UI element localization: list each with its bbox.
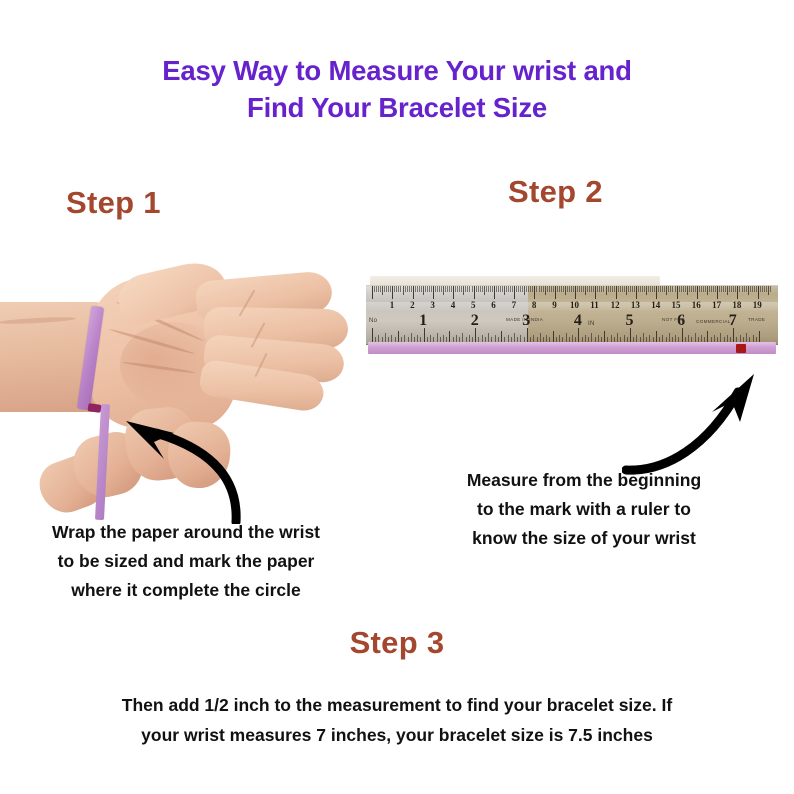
step-2-heading: Step 2 <box>508 174 603 210</box>
ruler-tick-inch <box>753 335 754 342</box>
ruler-tick-mm <box>725 286 726 292</box>
ruler-tick-mm <box>626 286 627 295</box>
ruler-tick-mm <box>691 286 692 292</box>
ruler-tick-mm <box>518 286 519 292</box>
ruler-cm-number: 19 <box>753 301 762 310</box>
ruler-cm-number: 18 <box>732 301 741 310</box>
ruler-tick-mm <box>746 286 747 292</box>
ruler-tick-mm <box>388 286 389 292</box>
ruler-tick-mm <box>467 286 468 292</box>
ruler-tick-mm <box>526 286 527 292</box>
ruler-tick-mm <box>419 286 420 292</box>
ruler-tick-mm <box>461 286 462 292</box>
ruler-tick-inch <box>443 335 444 342</box>
ruler-tick-inch <box>746 333 747 342</box>
ruler-tick-mm <box>433 286 434 299</box>
wrist-paper-mark <box>88 403 102 413</box>
page-title-line-2: Find Your Bracelet Size <box>0 89 794 126</box>
ruler-tick-mm <box>687 286 688 295</box>
ruler-tick-mm <box>482 286 483 292</box>
infographic-page: Easy Way to Measure Your wrist and Find … <box>0 0 794 794</box>
ruler-tick-mm <box>384 286 385 292</box>
ruler-tick-inch <box>430 335 431 342</box>
ruler-tick-inch <box>604 331 605 342</box>
ruler-tick-mm <box>636 286 637 299</box>
ruler-tick-inch <box>759 331 760 342</box>
ruler-tick-inch <box>636 335 637 342</box>
ruler-tick-mm <box>685 286 686 292</box>
ruler-tick-inch <box>527 328 528 342</box>
ruler-tick-inch <box>553 331 554 342</box>
step-2-caption: Measure from the beginning to the mark w… <box>398 466 770 553</box>
ruler-tick-mm <box>376 286 377 292</box>
ruler-cm-number: 3 <box>430 301 435 310</box>
step-3-caption-line-1: Then add 1/2 inch to the measurement to … <box>47 690 747 720</box>
ruler-tick-mm <box>656 286 657 299</box>
ruler-tick-mm <box>677 286 678 299</box>
ruler-tick-inch <box>707 331 708 342</box>
ruler-tick-inch <box>475 328 476 342</box>
ruler-measured-paper-strip <box>368 342 776 354</box>
ruler-tick-inch <box>546 335 547 342</box>
ruler-tick-mm <box>488 286 489 292</box>
ruler-tick-mm <box>571 286 572 292</box>
step-2-ruler-photo: 12345678910111213141516171819 1234567 MA… <box>366 276 778 362</box>
page-title: Easy Way to Measure Your wrist and Find … <box>0 52 794 126</box>
ruler-tick-mm <box>650 286 651 292</box>
ruler-tick-mm <box>579 286 580 292</box>
ruler-tick-mm <box>614 286 615 292</box>
ruler-tick-mm <box>396 286 397 292</box>
ruler-cm-number: 14 <box>651 301 660 310</box>
ruler-tick-mm <box>593 286 594 292</box>
ruler-cm-number: 12 <box>611 301 620 310</box>
ruler-tick-mm <box>723 286 724 292</box>
ruler-tick-mm <box>717 286 718 299</box>
ruler-tick-mm <box>469 286 470 292</box>
ruler-inch-number: 5 <box>626 313 634 329</box>
ruler-label-inch-unit: IN <box>588 321 595 327</box>
ruler-tick-mm <box>463 286 464 295</box>
ruler-tick-mm <box>587 286 588 292</box>
ruler-tick-mm <box>441 286 442 292</box>
ruler-tick-mm <box>727 286 728 295</box>
ruler-tick-inch <box>591 333 592 342</box>
ruler-tick-mm <box>640 286 641 292</box>
ruler-tick-mm <box>766 286 767 292</box>
ruler-tick-inch <box>630 328 631 342</box>
ruler-tick-mm <box>453 286 454 299</box>
ruler-tick-mm <box>638 286 639 292</box>
ruler-body: 12345678910111213141516171819 1234567 MA… <box>366 285 778 345</box>
ruler-tick-inch <box>417 335 418 342</box>
ruler-tick-inch <box>501 331 502 342</box>
ruler-stamp-commercial: COMMERCIAL <box>696 319 731 324</box>
ruler-tick-mm <box>715 286 716 292</box>
ruler-tick-inch <box>585 335 586 342</box>
ruler-cm-number: 11 <box>590 301 599 310</box>
ruler-tick-mm <box>543 286 544 292</box>
ruler-tick-mm <box>429 286 430 292</box>
ruler-tick-mm <box>597 286 598 292</box>
ruler-tick-inch <box>424 328 425 342</box>
ruler-tick-mm <box>573 286 574 292</box>
ruler-tick-mm <box>752 286 753 292</box>
ruler-cm-number: 5 <box>471 301 476 310</box>
ruler-cm-number: 7 <box>512 301 517 310</box>
ruler-label-left: No <box>369 318 377 324</box>
ruler-tick-inch <box>508 335 509 342</box>
ruler-tick-mm <box>532 286 533 292</box>
ruler-tick-mm <box>524 286 525 295</box>
ruler-tick-mm <box>553 286 554 292</box>
ruler-tick-mm <box>569 286 570 292</box>
step-2-caption-line-2: to the mark with a ruler to <box>398 495 770 524</box>
ruler-tick-inch <box>701 335 702 342</box>
ruler-tick-mm <box>413 286 414 299</box>
ruler-tick-mm <box>539 286 540 292</box>
ruler-tick-inch <box>391 335 392 342</box>
ruler-tick-inch <box>740 335 741 342</box>
ruler-tick-mm <box>565 286 566 295</box>
ruler-tick-inch <box>617 333 618 342</box>
ruler-cm-number: 15 <box>672 301 681 310</box>
ruler-tick-inch <box>598 335 599 342</box>
ruler-tick-mm <box>425 286 426 292</box>
ruler-tick-inch <box>514 333 515 342</box>
ruler-tick-mm <box>756 286 757 292</box>
ruler-tick-mm <box>510 286 511 292</box>
ruler-tick-mm <box>705 286 706 292</box>
ruler-tick-inch <box>495 335 496 342</box>
ruler-tick-mm <box>642 286 643 292</box>
ruler-tick-mm <box>575 286 576 299</box>
ruler-cm-number: 8 <box>532 301 537 310</box>
ruler-tick-mm <box>409 286 410 292</box>
ruler-tick-mm <box>620 286 621 292</box>
ruler-tick-mm <box>427 286 428 292</box>
ruler-cm-number: 13 <box>631 301 640 310</box>
ruler-tick-mm <box>624 286 625 292</box>
ruler-tick-inch <box>533 335 534 342</box>
ruler-tick-mm <box>567 286 568 292</box>
ruler-stamp-made-in-india: MADE IN INDIA <box>506 317 543 322</box>
ruler-cm-number: 1 <box>390 301 395 310</box>
ruler-tick-mm <box>557 286 558 292</box>
ruler-inch-number: 2 <box>471 313 479 329</box>
ruler-tick-mm <box>648 286 649 292</box>
ruler-tick-mm <box>618 286 619 292</box>
ruler-tick-mm <box>744 286 745 292</box>
ruler-tick-mm <box>486 286 487 292</box>
ruler-tick-mm <box>423 286 424 295</box>
ruler-tick-mm <box>465 286 466 292</box>
ruler-tick-mm <box>421 286 422 292</box>
ruler-tick-inch <box>624 335 625 342</box>
ruler-cm-number: 9 <box>552 301 557 310</box>
ruler-tick-mm <box>713 286 714 292</box>
ruler-tick-mm <box>530 286 531 292</box>
ruler-tick-mm <box>431 286 432 292</box>
ruler-tick-mm <box>675 286 676 292</box>
ruler-tick-inch <box>649 335 650 342</box>
ruler-tick-inch <box>688 335 689 342</box>
ruler-tick-mm <box>490 286 491 292</box>
ruler-tick-mm <box>707 286 708 295</box>
ruler-tick-inch <box>727 335 728 342</box>
ruler-tick-mm <box>695 286 696 292</box>
ruler-tick-mm <box>372 286 373 299</box>
ruler-tick-mm <box>699 286 700 292</box>
ruler-tick-mm <box>449 286 450 292</box>
ruler-tick-inch <box>656 331 657 342</box>
ruler-tick-inch <box>572 335 573 342</box>
ruler-inch-number: 4 <box>574 313 582 329</box>
ruler-tick-mm <box>654 286 655 292</box>
ruler-tick-mm <box>443 286 444 295</box>
ruler-tick-mm <box>735 286 736 292</box>
ruler-tick-mm <box>610 286 611 292</box>
ruler-tick-inch <box>695 333 696 342</box>
ruler-cm-number: 2 <box>410 301 415 310</box>
ruler-tick-mm <box>502 286 503 292</box>
ruler-tick-mm <box>603 286 604 292</box>
ruler-tick-mm <box>392 286 393 299</box>
ruler-tick-mm <box>742 286 743 292</box>
ruler-tick-mm <box>762 286 763 292</box>
ruler-tick-mm <box>451 286 452 292</box>
ruler-tick-mm <box>660 286 661 292</box>
ruler-tick-mm <box>439 286 440 292</box>
ruler-tick-mm <box>506 286 507 292</box>
ruler-tick-mm <box>407 286 408 292</box>
ruler-tick-mm <box>435 286 436 292</box>
ruler-tick-inch <box>733 328 734 342</box>
ruler-tick-mm <box>534 286 535 299</box>
step-3-heading: Step 3 <box>0 625 794 661</box>
ruler-tick-mm <box>496 286 497 292</box>
ruler-tick-mm <box>770 286 771 292</box>
step-1-caption-line-1: Wrap the paper around the wrist <box>0 518 372 547</box>
ruler-tick-mm <box>498 286 499 292</box>
ruler-tick-mm <box>622 286 623 292</box>
ruler-tick-mm <box>672 286 673 292</box>
ruler-tick-mm <box>662 286 663 292</box>
ruler-tick-mm <box>374 286 375 292</box>
ruler-cm-number: 4 <box>451 301 456 310</box>
ruler-tick-mm <box>541 286 542 292</box>
step-3-caption: Then add 1/2 inch to the measurement to … <box>47 690 747 750</box>
ruler-cm-number: 6 <box>491 301 496 310</box>
ruler-tick-inch <box>378 335 379 342</box>
ruler-tick-mm <box>508 286 509 292</box>
ruler-tick-mm <box>563 286 564 292</box>
ruler-tick-mm <box>403 286 404 295</box>
ruler-tick-mm <box>630 286 631 292</box>
ruler-tick-mm <box>737 286 738 299</box>
ruler-inch-number: 1 <box>419 313 427 329</box>
ruler-tick-mm <box>721 286 722 292</box>
ruler-tick-inch <box>404 335 405 342</box>
ruler-tick-mm <box>646 286 647 295</box>
ruler-tick-mm <box>679 286 680 292</box>
ruler-tick-mm <box>398 286 399 292</box>
ruler-tick-mm <box>386 286 387 292</box>
step-1-caption-line-3: where it complete the circle <box>0 576 372 605</box>
ruler-tick-mm <box>504 286 505 295</box>
ruler-tick-mm <box>599 286 600 292</box>
ruler-tick-inch <box>411 333 412 342</box>
ruler-tick-mm <box>760 286 761 292</box>
ruler-tick-inch <box>540 333 541 342</box>
ruler-tick-mm <box>658 286 659 292</box>
ruler-tick-mm <box>616 286 617 299</box>
ruler-tick-mm <box>668 286 669 292</box>
ruler-tick-mm <box>457 286 458 292</box>
ruler-tick-mm <box>585 286 586 295</box>
ruler-tick-mm <box>480 286 481 292</box>
ruler-tick-mm <box>476 286 477 292</box>
ruler-tick-mm <box>750 286 751 292</box>
ruler-tick-mm <box>445 286 446 292</box>
ruler-tick-inch <box>720 333 721 342</box>
ruler-tick-mm <box>754 286 755 292</box>
ruler-tick-inch <box>662 335 663 342</box>
ruler-tick-inch <box>520 335 521 342</box>
ruler-tick-mm <box>577 286 578 292</box>
ruler-tick-mm <box>608 286 609 292</box>
ruler-stamp-not-for: NOT FOR <box>662 317 685 322</box>
ruler-tick-inch <box>372 328 373 342</box>
ruler-tick-mm <box>492 286 493 292</box>
ruler-tick-mm <box>581 286 582 292</box>
ruler-tick-mm <box>693 286 694 292</box>
ruler-tick-mm <box>382 286 383 295</box>
ruler-tick-mm <box>545 286 546 295</box>
ruler-tick-mm <box>512 286 513 292</box>
ruler-tick-mm <box>522 286 523 292</box>
ruler-tick-mm <box>697 286 698 299</box>
ruler-tick-mm <box>400 286 401 292</box>
ruler-tick-inch <box>559 335 560 342</box>
ruler-tick-mm <box>484 286 485 295</box>
ruler-tick-mm <box>644 286 645 292</box>
ruler-tick-mm <box>474 286 475 299</box>
ruler-tick-inch <box>566 333 567 342</box>
ruler-tick-mm <box>681 286 682 292</box>
step-3-caption-line-2: your wrist measures 7 inches, your brace… <box>47 720 747 750</box>
step-2-caption-line-3: know the size of your wrist <box>398 524 770 553</box>
ruler-cm-number: 16 <box>692 301 701 310</box>
step-1-heading: Step 1 <box>66 185 161 221</box>
ruler-tick-inch <box>462 333 463 342</box>
ruler-tick-inch <box>578 328 579 342</box>
ruler-paper-red-mark <box>736 344 746 353</box>
ruler-tick-mm <box>459 286 460 292</box>
ruler-cm-number: 10 <box>570 301 579 310</box>
ruler-tick-mm <box>411 286 412 292</box>
ruler-tick-inch <box>385 333 386 342</box>
step-2-caption-line-1: Measure from the beginning <box>398 466 770 495</box>
ruler-tick-mm <box>551 286 552 292</box>
ruler-tick-mm <box>634 286 635 292</box>
ruler-tick-mm <box>394 286 395 292</box>
ruler-tick-mm <box>589 286 590 292</box>
ruler-tick-mm <box>719 286 720 292</box>
ruler-tick-mm <box>701 286 702 292</box>
ruler-tick-inch <box>437 333 438 342</box>
ruler-tick-mm <box>390 286 391 292</box>
ruler-tick-inch <box>482 335 483 342</box>
ruler-tick-mm <box>478 286 479 292</box>
ruler-tick-mm <box>380 286 381 292</box>
arrow-to-wrist-mark-icon <box>112 412 288 524</box>
ruler-tick-mm <box>709 286 710 292</box>
ruler-tick-mm <box>447 286 448 292</box>
ruler-tick-mm <box>764 286 765 292</box>
ruler-tick-inch <box>675 335 676 342</box>
ruler-tick-inch <box>669 333 670 342</box>
ruler-tick-inch <box>398 331 399 342</box>
ruler-tick-mm <box>612 286 613 292</box>
ruler-tick-mm <box>711 286 712 292</box>
ruler-tick-inch <box>643 333 644 342</box>
ruler-tick-inch <box>488 333 489 342</box>
ruler-tick-mm <box>670 286 671 292</box>
ruler-tick-mm <box>405 286 406 292</box>
ruler-tick-mm <box>595 286 596 299</box>
arrow-to-ruler-mark-icon <box>622 372 766 476</box>
ruler-tick-mm <box>703 286 704 292</box>
ruler-tick-mm <box>555 286 556 299</box>
ruler-tick-mm <box>516 286 517 292</box>
ruler-tick-mm <box>549 286 550 292</box>
ruler-tick-mm <box>536 286 537 292</box>
ruler-tick-mm <box>758 286 759 299</box>
ruler-tick-mm <box>455 286 456 292</box>
ruler-tick-mm <box>664 286 665 292</box>
ruler-tick-mm <box>768 286 769 295</box>
ruler-tick-mm <box>514 286 515 299</box>
ruler-tick-mm <box>591 286 592 292</box>
ruler-tick-inch <box>682 328 683 342</box>
ruler-tick-mm <box>729 286 730 292</box>
ruler-tick-mm <box>415 286 416 292</box>
ruler-tick-mm <box>437 286 438 292</box>
ruler-tick-inch <box>611 335 612 342</box>
ruler-tick-mm <box>417 286 418 292</box>
ruler-tick-mm <box>547 286 548 292</box>
step-1-caption-line-2: to be sized and mark the paper <box>0 547 372 576</box>
ruler-cm-number: 17 <box>712 301 721 310</box>
ruler-tick-mm <box>500 286 501 292</box>
ruler-tick-mm <box>652 286 653 292</box>
ruler-stamp-trade: TRADE <box>748 317 765 322</box>
ruler-tick-mm <box>472 286 473 292</box>
ruler-tick-mm <box>689 286 690 292</box>
page-title-line-1: Easy Way to Measure Your wrist and <box>162 55 632 86</box>
ruler-tick-mm <box>561 286 562 292</box>
ruler-tick-mm <box>583 286 584 292</box>
ruler-tick-mm <box>628 286 629 292</box>
ruler-tick-inch <box>714 335 715 342</box>
ruler-tick-mm <box>601 286 602 292</box>
ruler-tick-mm <box>748 286 749 295</box>
ruler-tick-mm <box>528 286 529 292</box>
ruler-tick-inch <box>449 331 450 342</box>
ruler-tick-mm <box>559 286 560 292</box>
ruler-tick-inch <box>469 335 470 342</box>
